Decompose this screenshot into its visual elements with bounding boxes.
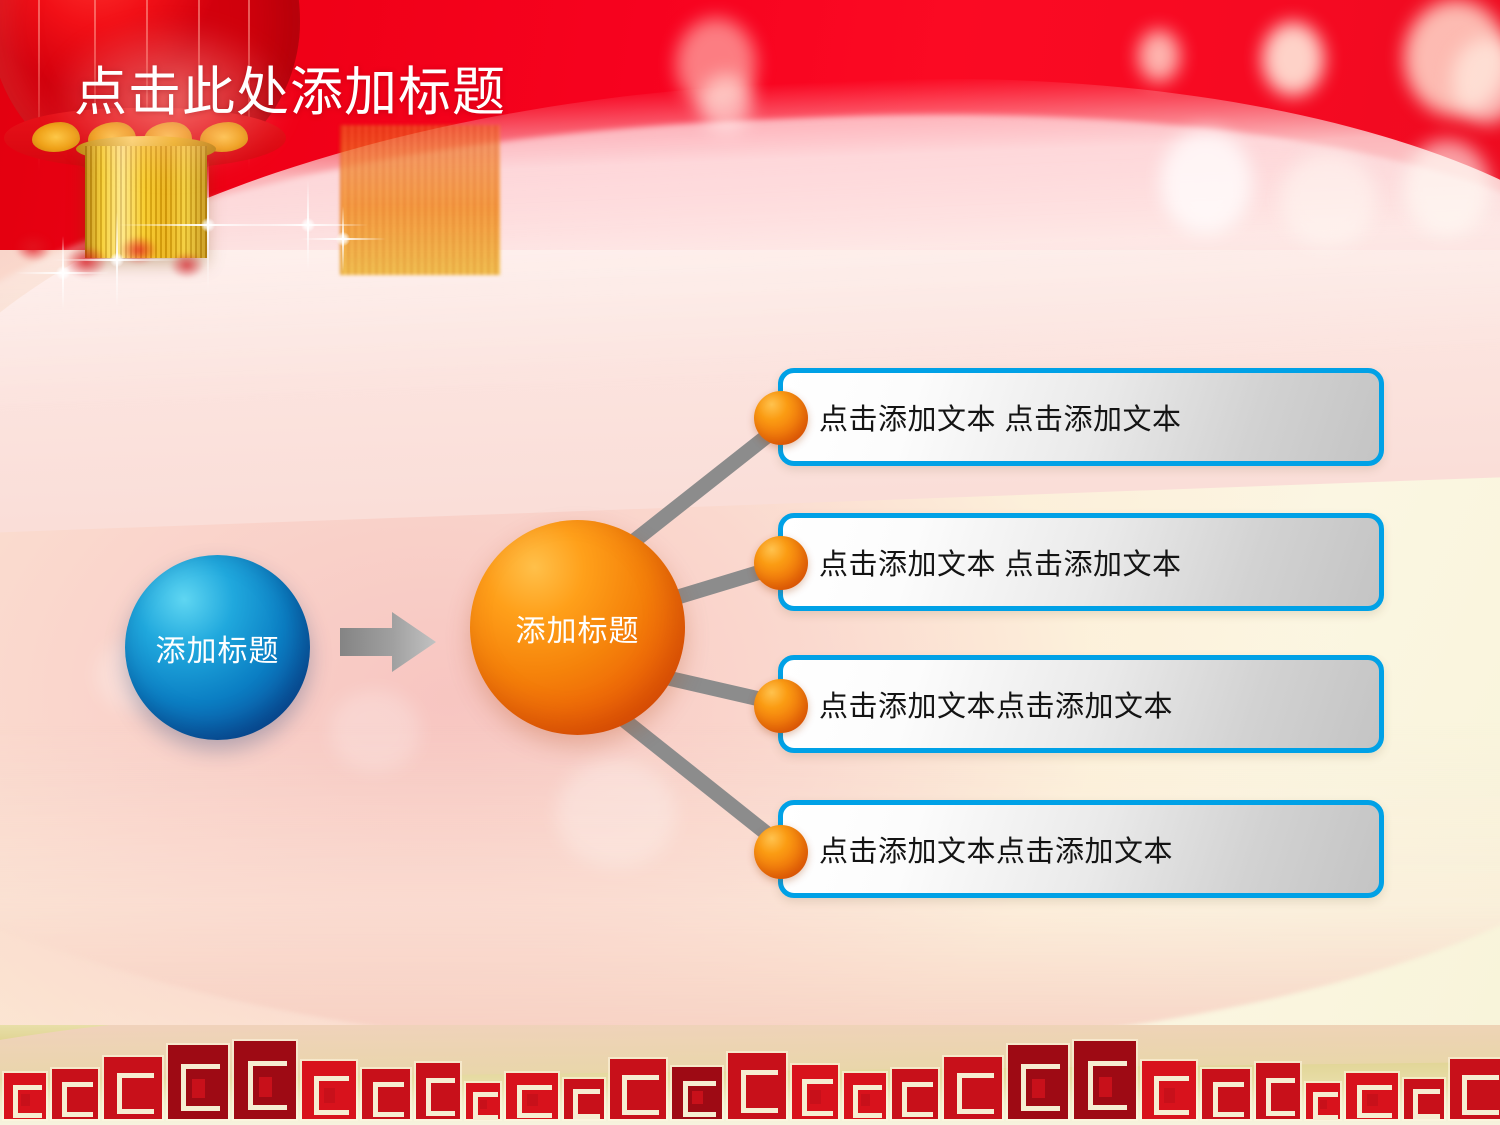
fret-motif [1256,1063,1300,1119]
branch-textbox-3[interactable]: 点击添加文本点击添加文本 [778,655,1384,753]
branch-text-1: 点击添加文本 点击添加文本 [819,396,1182,438]
slide-canvas: 点击此处添加标题 添加标题 [0,0,1500,1125]
fret-motif [564,1079,604,1119]
fret-motif [1450,1059,1500,1119]
fret-motif [1346,1073,1398,1119]
branch-text-4: 点击添加文本点击添加文本 [819,828,1173,870]
fret-motif [610,1059,666,1119]
fret-motif [234,1041,296,1119]
branch-text-2: 点击添加文本 点击添加文本 [819,541,1182,583]
fret-motif [1404,1079,1444,1119]
fret-motif [52,1069,98,1119]
diagram-source-node[interactable]: 添加标题 [125,555,310,740]
fret-motif [944,1057,1002,1119]
source-node-label: 添加标题 [156,626,280,670]
diagram-hub-node[interactable]: 添加标题 [470,520,685,735]
smartart-diagram: 添加标题 添加标题 点击 [0,0,1500,1125]
branch-textbox-4[interactable]: 点击添加文本点击添加文本 [778,800,1384,898]
fret-motif [1074,1041,1136,1119]
branch-textbox-2[interactable]: 点击添加文本 点击添加文本 [778,513,1384,611]
fret-motif [4,1073,46,1119]
branch-bullet-1[interactable] [754,391,808,445]
fret-pattern-row [0,1047,1500,1119]
fret-motif [792,1065,838,1119]
fret-motif [1202,1069,1250,1119]
fret-motif [416,1063,460,1119]
fret-motif [844,1073,886,1119]
branch-bullet-4[interactable] [754,825,808,879]
fret-motif [362,1069,410,1119]
branch-bullet-3[interactable] [754,679,808,733]
fret-motif [302,1061,356,1119]
fret-motif [892,1069,938,1119]
branch-textbox-1[interactable]: 点击添加文本 点击添加文本 [778,368,1384,466]
fret-motif [506,1073,558,1119]
fret-motif [1142,1061,1196,1119]
right-arrow-icon [340,610,436,674]
branch-bullet-2[interactable] [754,536,808,590]
fret-motif [1306,1083,1340,1119]
fret-motif [1008,1045,1068,1119]
fret-motif [728,1053,786,1119]
fret-motif [466,1083,500,1119]
fret-motif [168,1045,228,1119]
fret-motif [104,1057,162,1119]
fret-motif [672,1067,722,1119]
footer-decorative-border [0,1025,1500,1125]
hub-node-label: 添加标题 [516,606,640,650]
branch-text-3: 点击添加文本点击添加文本 [819,683,1173,725]
